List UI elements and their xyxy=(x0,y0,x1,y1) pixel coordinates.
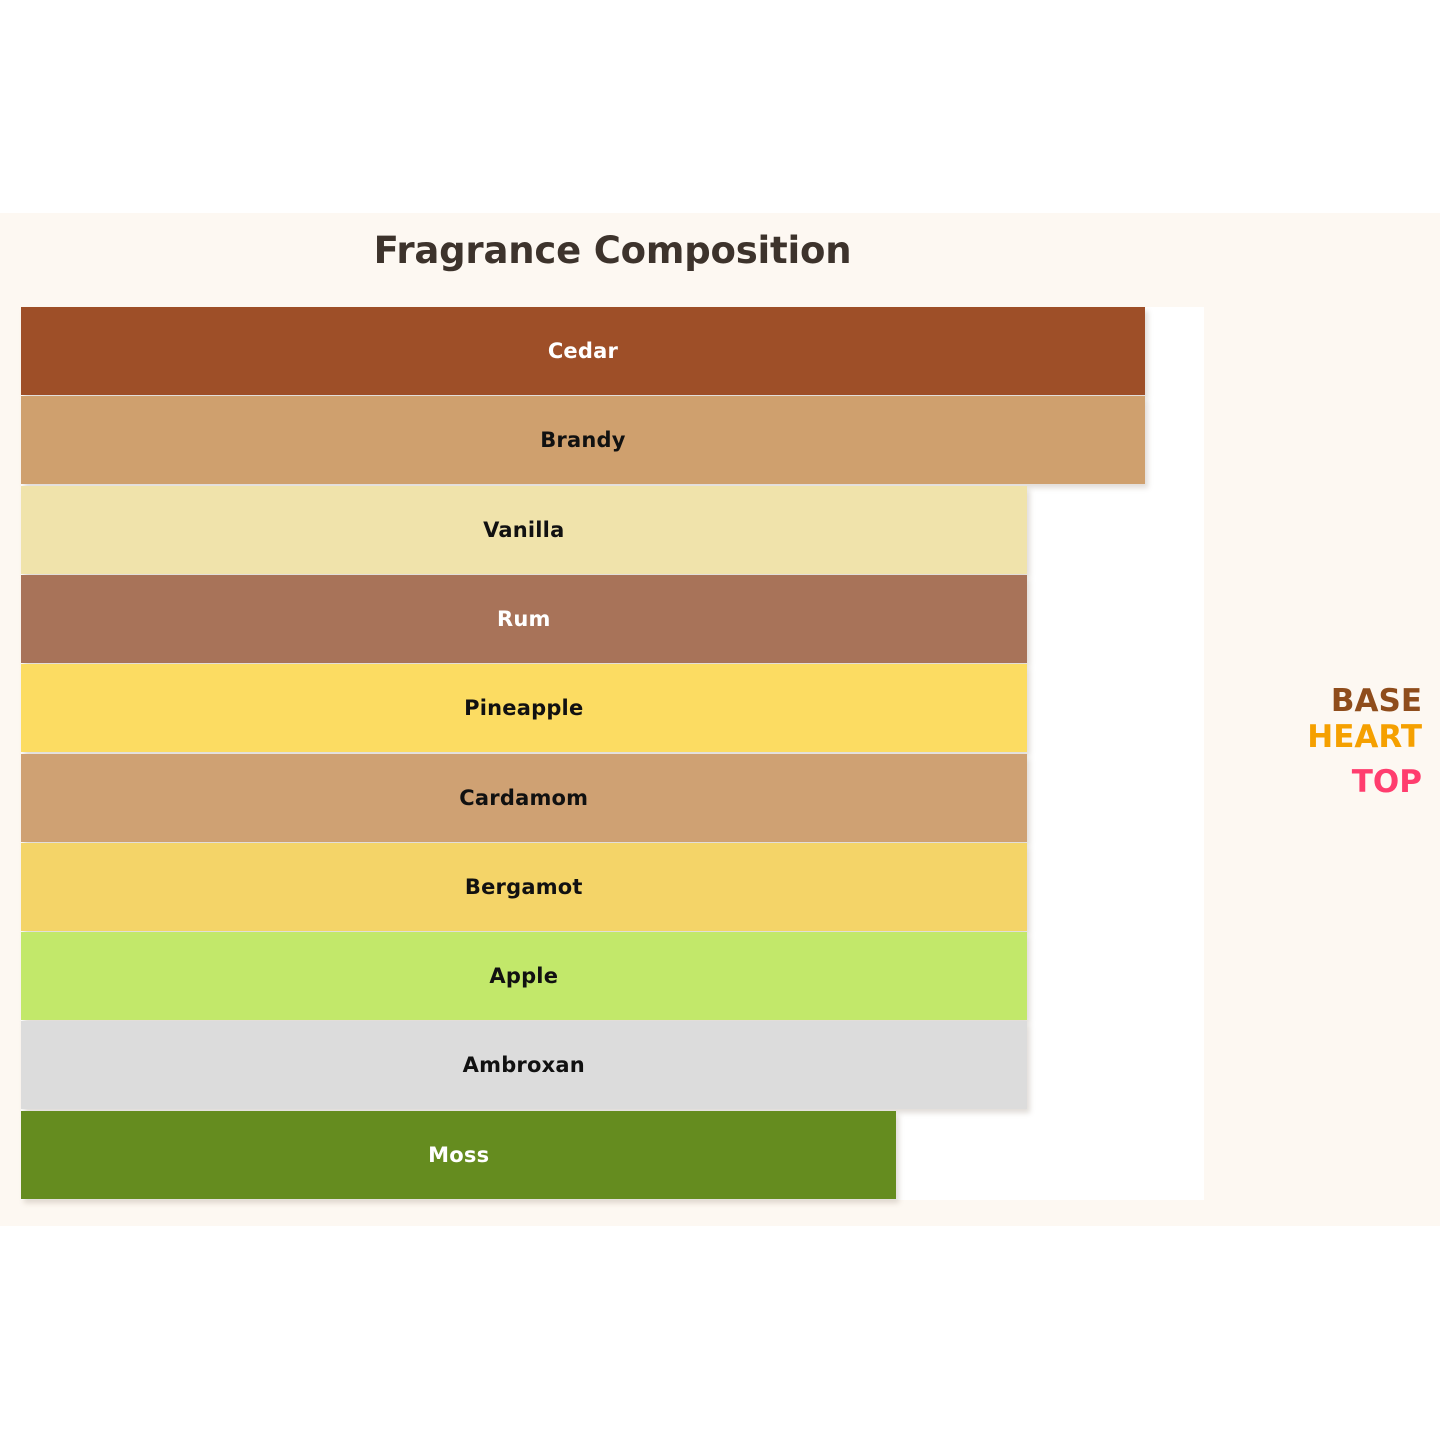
bar-apple[interactable]: Apple xyxy=(21,932,1027,1020)
legend-item-base[interactable]: BASE xyxy=(1307,686,1422,717)
bar-bergamot[interactable]: Bergamot xyxy=(21,843,1027,931)
bar-label: Rum xyxy=(497,607,551,631)
legend-item-top[interactable]: TOP xyxy=(1307,767,1422,798)
bar-label: Vanilla xyxy=(483,518,564,542)
bar-label: Cedar xyxy=(548,339,618,363)
legend-item-heart[interactable]: HEART xyxy=(1307,722,1422,753)
bar-brandy[interactable]: Brandy xyxy=(21,396,1145,484)
chart-legend: BASE HEART TOP xyxy=(1307,686,1422,798)
bar-rum[interactable]: Rum xyxy=(21,575,1027,663)
page-title: Fragrance Composition xyxy=(21,229,1204,272)
bar-moss[interactable]: Moss xyxy=(21,1111,896,1199)
bar-label: Pineapple xyxy=(464,696,583,720)
bar-label: Cardamom xyxy=(459,786,588,810)
bar-cardamom[interactable]: Cardamom xyxy=(21,754,1027,842)
bar-cedar[interactable]: Cedar xyxy=(21,307,1145,395)
bar-label: Apple xyxy=(489,964,558,988)
bar-label: Ambroxan xyxy=(463,1053,585,1077)
bar-label: Moss xyxy=(428,1143,489,1167)
bar-ambroxan[interactable]: Ambroxan xyxy=(21,1021,1027,1109)
bar-vanilla[interactable]: Vanilla xyxy=(21,486,1027,574)
bar-pineapple[interactable]: Pineapple xyxy=(21,664,1027,752)
chart-canvas: Fragrance Composition CedarBrandyVanilla… xyxy=(0,0,1440,1440)
bar-label: Brandy xyxy=(540,428,625,452)
bar-label: Bergamot xyxy=(465,875,583,899)
